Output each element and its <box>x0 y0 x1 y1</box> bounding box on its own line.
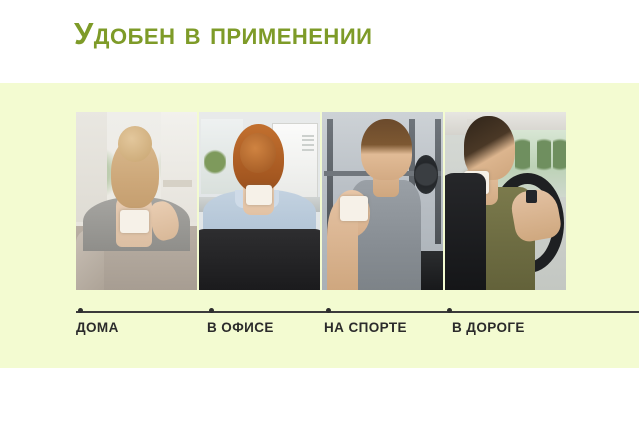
weight-plate <box>414 155 438 194</box>
therapy-patch <box>246 185 271 205</box>
page-title: Удобен в применении <box>74 14 372 54</box>
caption-sport: НА СПОРТЕ <box>324 320 407 335</box>
wrist-watch <box>526 190 537 202</box>
home-scene-photo <box>76 112 197 290</box>
monitor-text-line <box>302 139 314 141</box>
car-scene-photo <box>445 112 566 290</box>
timeline-dot-office <box>209 308 214 313</box>
monitor-text-line <box>302 135 314 137</box>
therapy-patch <box>340 196 368 221</box>
office-scene-photo <box>199 112 320 290</box>
car-seat <box>445 173 486 290</box>
timeline-dot-home <box>78 308 83 313</box>
caption-road: В ДОРОГЕ <box>452 320 525 335</box>
photo-panel-sport <box>322 112 443 290</box>
therapy-patch <box>120 210 149 233</box>
roadside-tree <box>515 137 530 176</box>
gym-scene-photo <box>322 112 443 290</box>
roadside-tree <box>537 137 552 176</box>
photo-strip <box>76 112 566 290</box>
plant <box>204 148 226 176</box>
timeline-dot-sport <box>326 308 331 313</box>
caption-office: В ОФИСЕ <box>207 320 274 335</box>
photo-panel-road <box>445 112 566 290</box>
roadside-tree <box>553 137 566 176</box>
hair-bun <box>118 126 152 162</box>
monitor-text-line <box>302 149 314 151</box>
monitor-text-line <box>302 144 314 146</box>
photo-panel-home <box>76 112 197 290</box>
office-chair <box>199 229 320 290</box>
head <box>361 119 412 180</box>
hair-bun <box>240 133 276 172</box>
timeline-axis <box>76 311 639 313</box>
shelf <box>163 180 192 187</box>
slide-canvas: Удобен в применении <box>0 0 639 444</box>
timeline-dot-road <box>447 308 452 313</box>
photo-panel-office <box>199 112 320 290</box>
caption-home: ДОМА <box>76 320 119 335</box>
